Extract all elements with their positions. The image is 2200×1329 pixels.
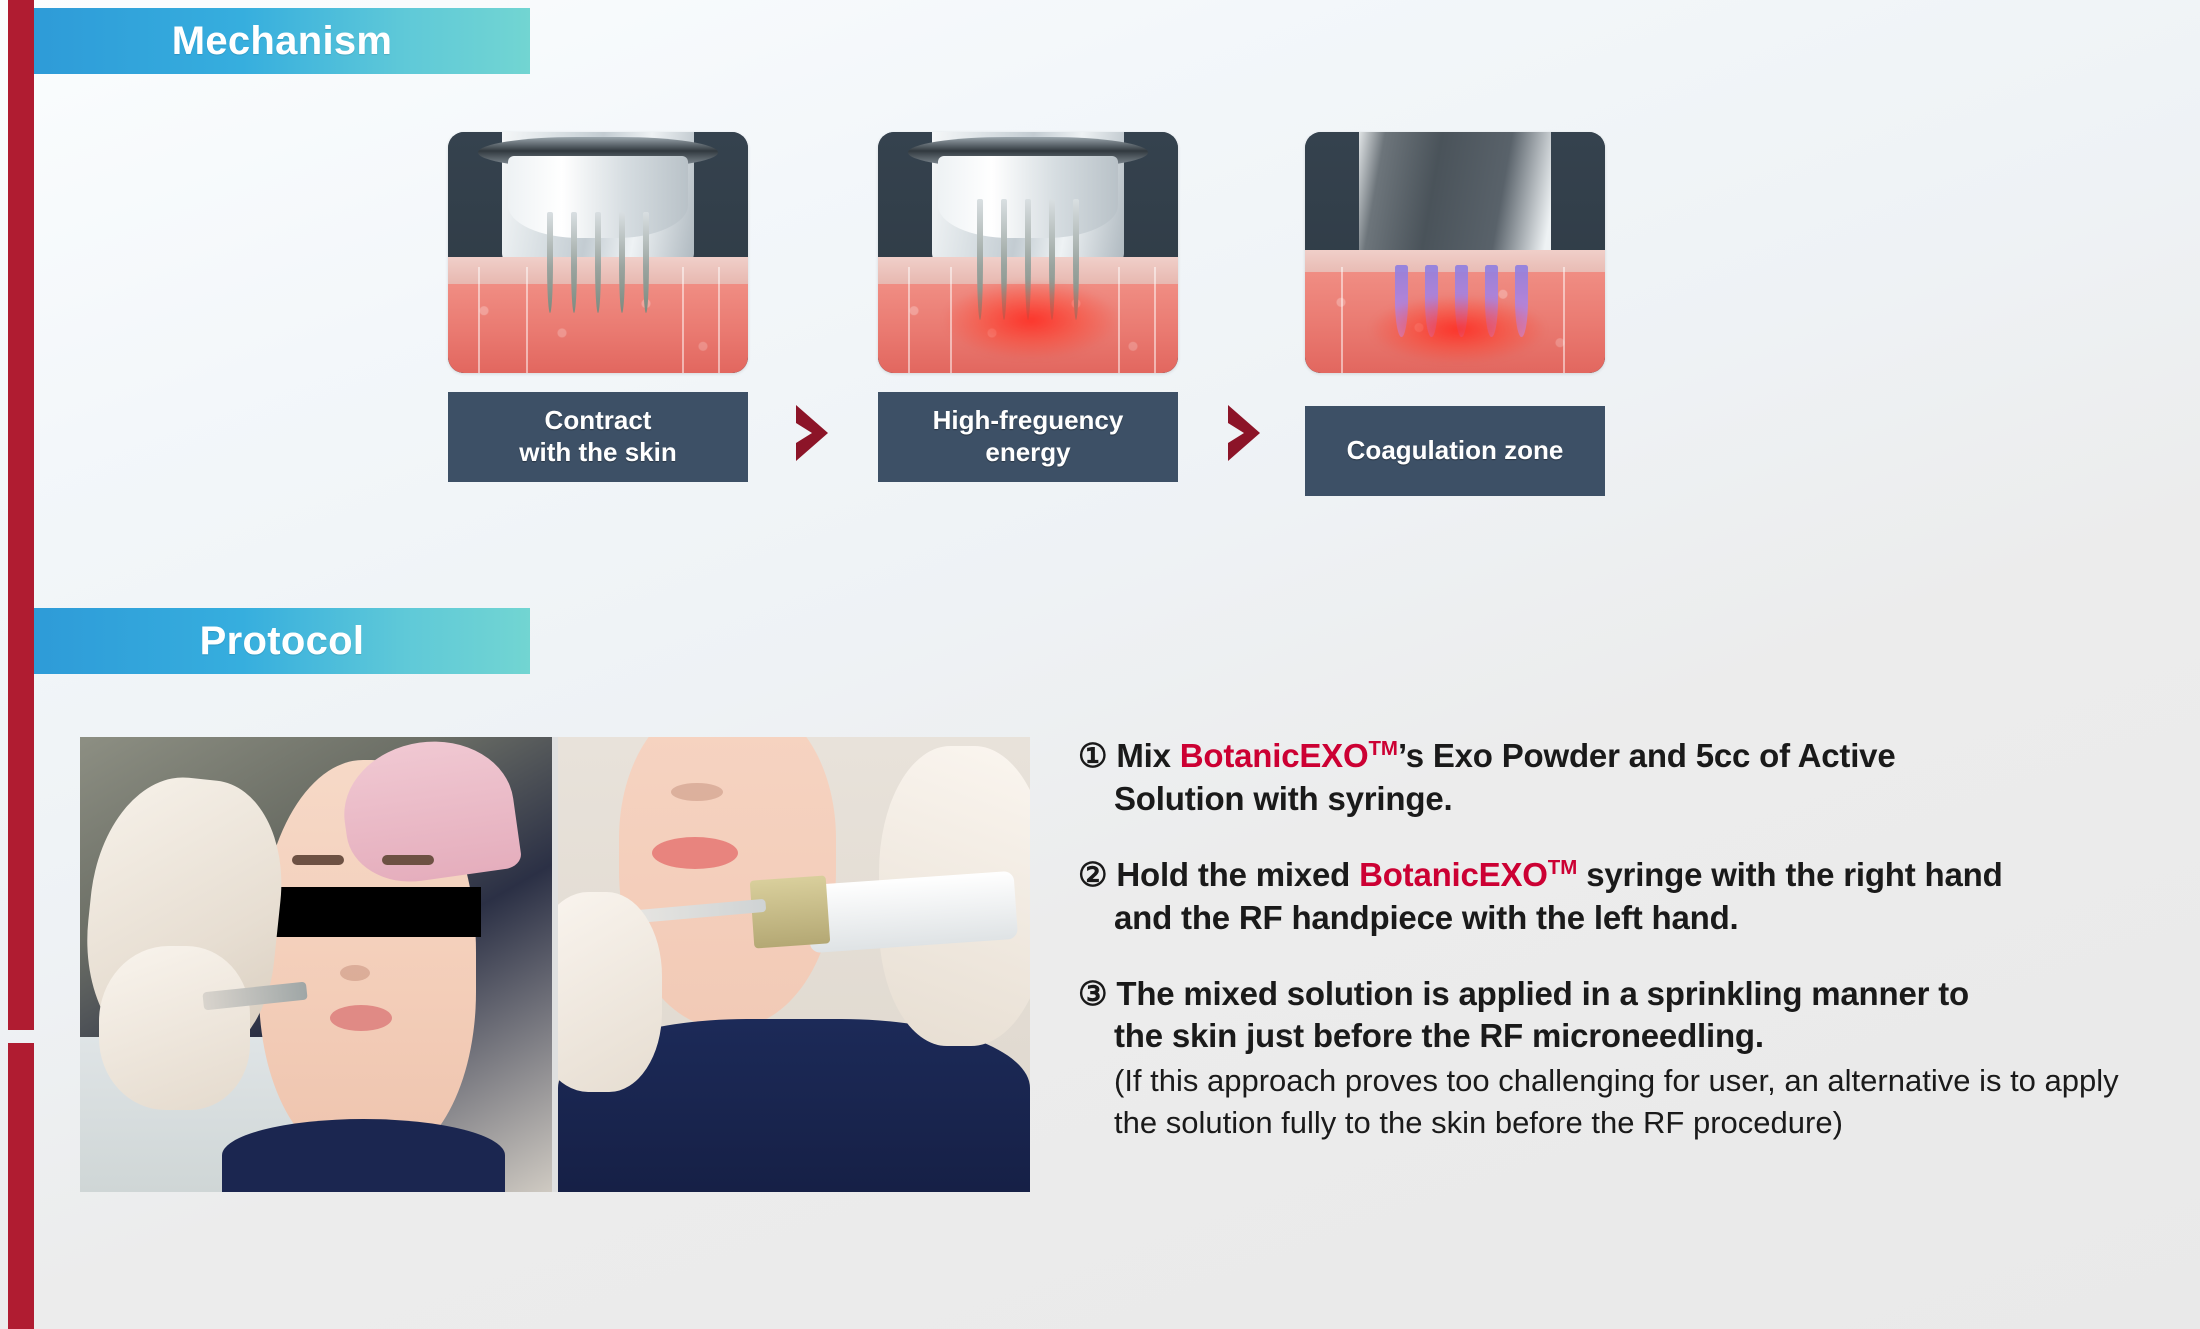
slide-root: Mechanism — [0, 0, 2200, 1329]
caption-line-1: Coagulation zone — [1347, 435, 1564, 465]
left-accent-bar-bottom — [8, 1043, 34, 1329]
protocol-item-1: ① Mix BotanicEXOTM’s Exo Powder and 5cc … — [1078, 735, 2138, 821]
mechanism-step-2: High-freguency energy — [878, 132, 1178, 482]
chevron-right-icon — [790, 403, 834, 463]
protocol-item-2-text-pre: Hold the mixed — [1116, 856, 1359, 893]
mechanism-step-3-caption: Coagulation zone — [1305, 406, 1605, 496]
protocol-item-1-trademark: TM — [1368, 737, 1398, 760]
protocol-item-3-number: ③ — [1078, 975, 1107, 1012]
clinical-photo-rf-handpiece-with-syringe — [558, 737, 1030, 1192]
caption-line-1: Contract — [545, 405, 652, 435]
protocol-item-1-line2: Solution with syringe. — [1078, 778, 2138, 821]
mechanism-step-1-image — [448, 132, 748, 373]
section-header-protocol: Protocol — [34, 608, 530, 674]
protocol-item-2-trademark: TM — [1548, 856, 1578, 879]
mechanism-step-2-image — [878, 132, 1178, 373]
section-title-protocol: Protocol — [200, 619, 365, 664]
protocol-item-3-text-pre: The mixed solution is applied in a sprin… — [1116, 975, 1969, 1012]
protocol-item-2-line2: and the RF handpiece with the left hand. — [1078, 897, 2138, 940]
mechanism-step-1: Contract with the skin — [448, 132, 748, 482]
protocol-photo-group — [80, 737, 1030, 1192]
protocol-item-3-note: (If this approach proves too challenging… — [1078, 1060, 2138, 1143]
section-title-mechanism: Mechanism — [172, 19, 393, 64]
protocol-item-3-line2: the skin just before the RF microneedlin… — [1078, 1015, 2138, 1058]
protocol-instructions-list: ① Mix BotanicEXOTM’s Exo Powder and 5cc … — [1078, 735, 2138, 1143]
section-header-mechanism: Mechanism — [34, 8, 530, 74]
protocol-item-1-text-pre: Mix — [1116, 737, 1179, 774]
protocol-item-2-number: ② — [1078, 856, 1107, 893]
caption-line-1: High-freguency — [933, 405, 1124, 435]
protocol-item-2: ② Hold the mixed BotanicEXOTM syringe wi… — [1078, 854, 2138, 940]
caption-line-2: with the skin — [519, 437, 676, 467]
protocol-item-3: ③ The mixed solution is applied in a spr… — [1078, 973, 2138, 1144]
mechanism-step-2-caption: High-freguency energy — [878, 392, 1178, 482]
mechanism-steps-row: Contract with the skin — [0, 132, 2200, 522]
mechanism-step-1-caption: Contract with the skin — [448, 392, 748, 482]
protocol-item-2-text-post: syringe with the right hand — [1577, 856, 2002, 893]
chevron-right-icon — [1222, 403, 1266, 463]
clinical-photo-syringe-on-face — [80, 737, 552, 1192]
protocol-item-1-number: ① — [1078, 737, 1107, 774]
privacy-eye-bar — [274, 887, 482, 937]
protocol-item-1-brand: BotanicEXO — [1180, 737, 1369, 774]
mechanism-step-3: Coagulation zone — [1305, 132, 1605, 496]
protocol-item-2-brand: BotanicEXO — [1359, 856, 1548, 893]
caption-line-2: energy — [985, 437, 1070, 467]
mechanism-step-3-image — [1305, 132, 1605, 373]
protocol-item-1-text-post: ’s Exo Powder and 5cc of Active — [1398, 737, 1896, 774]
